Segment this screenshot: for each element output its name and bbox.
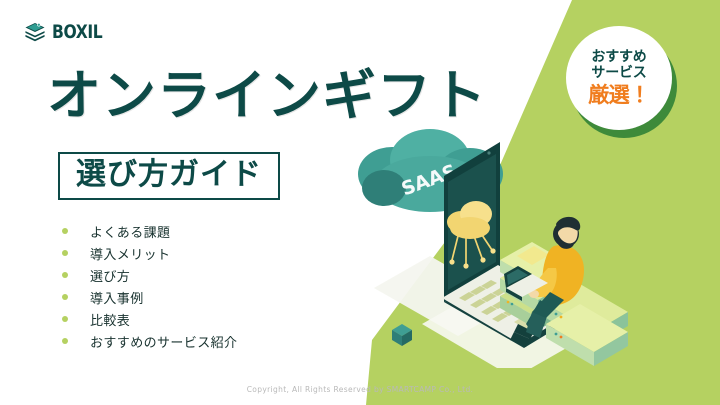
badge-line-3: 厳選！ [588,84,650,106]
list-item: おすすめのサービス紹介 [62,330,237,352]
agenda-list: よくある課題 導入メリット 選び方 導入事例 比較表 おすすめのサービス紹介 [62,220,237,352]
page-title: オンラインギフト [47,69,487,123]
small-cube [392,324,412,346]
slide-canvas: BOXIL オンラインギフト 選び方ガイド よくある課題 導入メリット 選び方 … [0,0,720,405]
badge-face: おすすめ サービス 厳選！ [566,26,672,130]
list-item: 比較表 [62,308,237,330]
recommended-badge: おすすめ サービス 厳選！ [566,26,678,138]
agenda-item-label: 導入事例 [90,288,144,307]
saas-isometric-illustration: SAAS [318,118,690,368]
logo-wordmark: BOXIL [52,23,102,42]
agenda-item-label: よくある課題 [90,222,170,241]
badge-line-2: サービス [591,66,646,82]
agenda-item-label: 選び方 [90,266,130,285]
stacked-layers-icon [24,21,46,43]
bullet-dot-icon [62,338,68,344]
copyright-text: Copyright, All Rights Reserved by SMARTC… [0,385,720,394]
agenda-item-label: おすすめのサービス紹介 [90,332,237,351]
subtitle-box: 選び方ガイド [58,152,280,200]
list-item: 導入事例 [62,286,237,308]
bullet-dot-icon [62,250,68,256]
agenda-item-label: 導入メリット [90,244,170,263]
badge-line-1: おすすめ [591,50,646,66]
list-item: 導入メリット [62,242,237,264]
agenda-item-label: 比較表 [90,310,130,329]
boxil-logo[interactable]: BOXIL [24,21,113,43]
list-item: よくある課題 [62,220,237,242]
bullet-dot-icon [62,272,68,278]
list-item: 選び方 [62,264,237,286]
bullet-dot-icon [62,294,68,300]
subtitle-text: 選び方ガイド [76,159,262,191]
bullet-dot-icon [62,228,68,234]
bullet-dot-icon [62,316,68,322]
